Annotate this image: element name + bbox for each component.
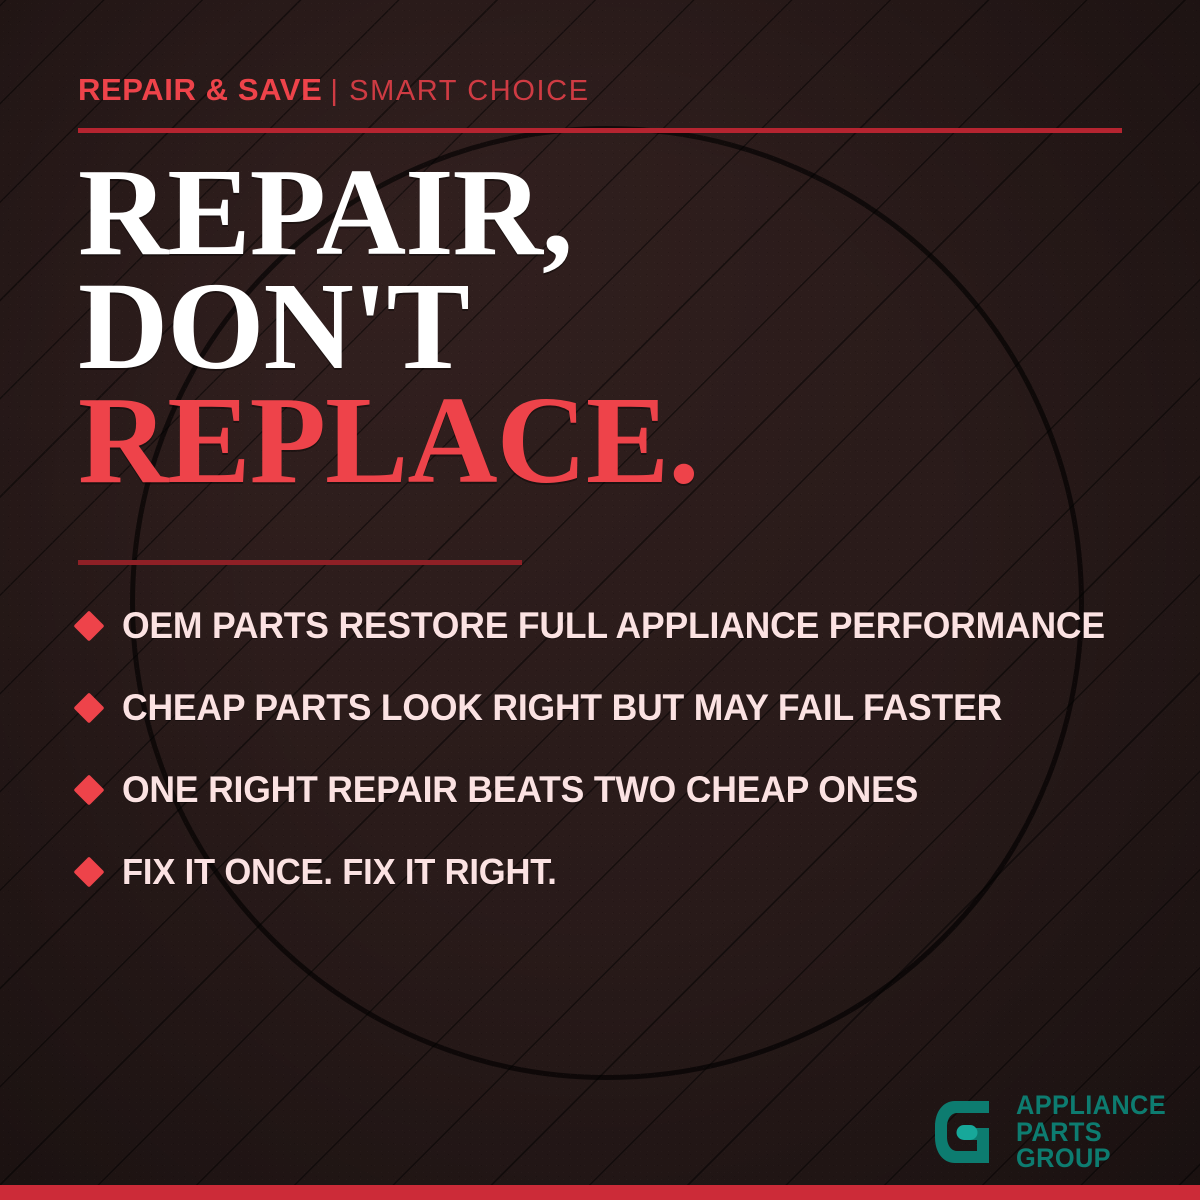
kicker-strong-text: REPAIR & SAVE — [78, 72, 322, 107]
list-item: ONE RIGHT REPAIR BEATS TWO CHEAP ONES — [78, 749, 1148, 831]
header-divider — [78, 128, 1122, 133]
headline-divider — [78, 560, 522, 565]
poster-content: REPAIR & SAVE| SMART CHOICE REPAIR, DON'… — [0, 0, 1200, 1200]
brand-logo-line-1: APPLIANCE — [1016, 1092, 1166, 1119]
diamond-icon — [73, 774, 104, 805]
benefits-list: OEM PARTS RESTORE FULL APPLIANCE PERFORM… — [78, 585, 1148, 913]
brand-logo-wordmark: APPLIANCE PARTS GROUP — [1016, 1092, 1166, 1172]
list-item: CHEAP PARTS LOOK RIGHT BUT MAY FAIL FAST… — [78, 667, 1148, 749]
headline-line-1: REPAIR, — [78, 157, 699, 271]
diamond-icon — [73, 610, 104, 641]
list-item-label: FIX IT ONCE. FIX IT RIGHT. — [122, 851, 557, 893]
promo-poster: REPAIR & SAVE| SMART CHOICE REPAIR, DON'… — [0, 0, 1200, 1200]
headline-line-3: REPLACE. — [78, 385, 699, 499]
kicker-light-text: | SMART CHOICE — [330, 75, 589, 107]
g-letter-mark-icon — [929, 1095, 1003, 1169]
list-item: OEM PARTS RESTORE FULL APPLIANCE PERFORM… — [78, 585, 1148, 667]
footer-accent-bar — [0, 1185, 1200, 1200]
headline-line-2: DON'T — [78, 271, 699, 385]
list-item-label: CHEAP PARTS LOOK RIGHT BUT MAY FAIL FAST… — [122, 687, 1002, 729]
list-item: FIX IT ONCE. FIX IT RIGHT. — [78, 831, 1148, 913]
page-title: REPAIR, DON'T REPLACE. — [78, 157, 699, 498]
brand-logo-line-3: GROUP — [1016, 1145, 1166, 1172]
diamond-icon — [73, 692, 104, 723]
kicker-line: REPAIR & SAVE| SMART CHOICE — [78, 74, 590, 106]
diamond-icon — [73, 856, 104, 887]
brand-logo-line-2: PARTS — [1016, 1119, 1166, 1146]
brand-logo: APPLIANCE PARTS GROUP — [929, 1092, 1176, 1172]
list-item-label: ONE RIGHT REPAIR BEATS TWO CHEAP ONES — [122, 769, 918, 811]
list-item-label: OEM PARTS RESTORE FULL APPLIANCE PERFORM… — [122, 605, 1105, 647]
